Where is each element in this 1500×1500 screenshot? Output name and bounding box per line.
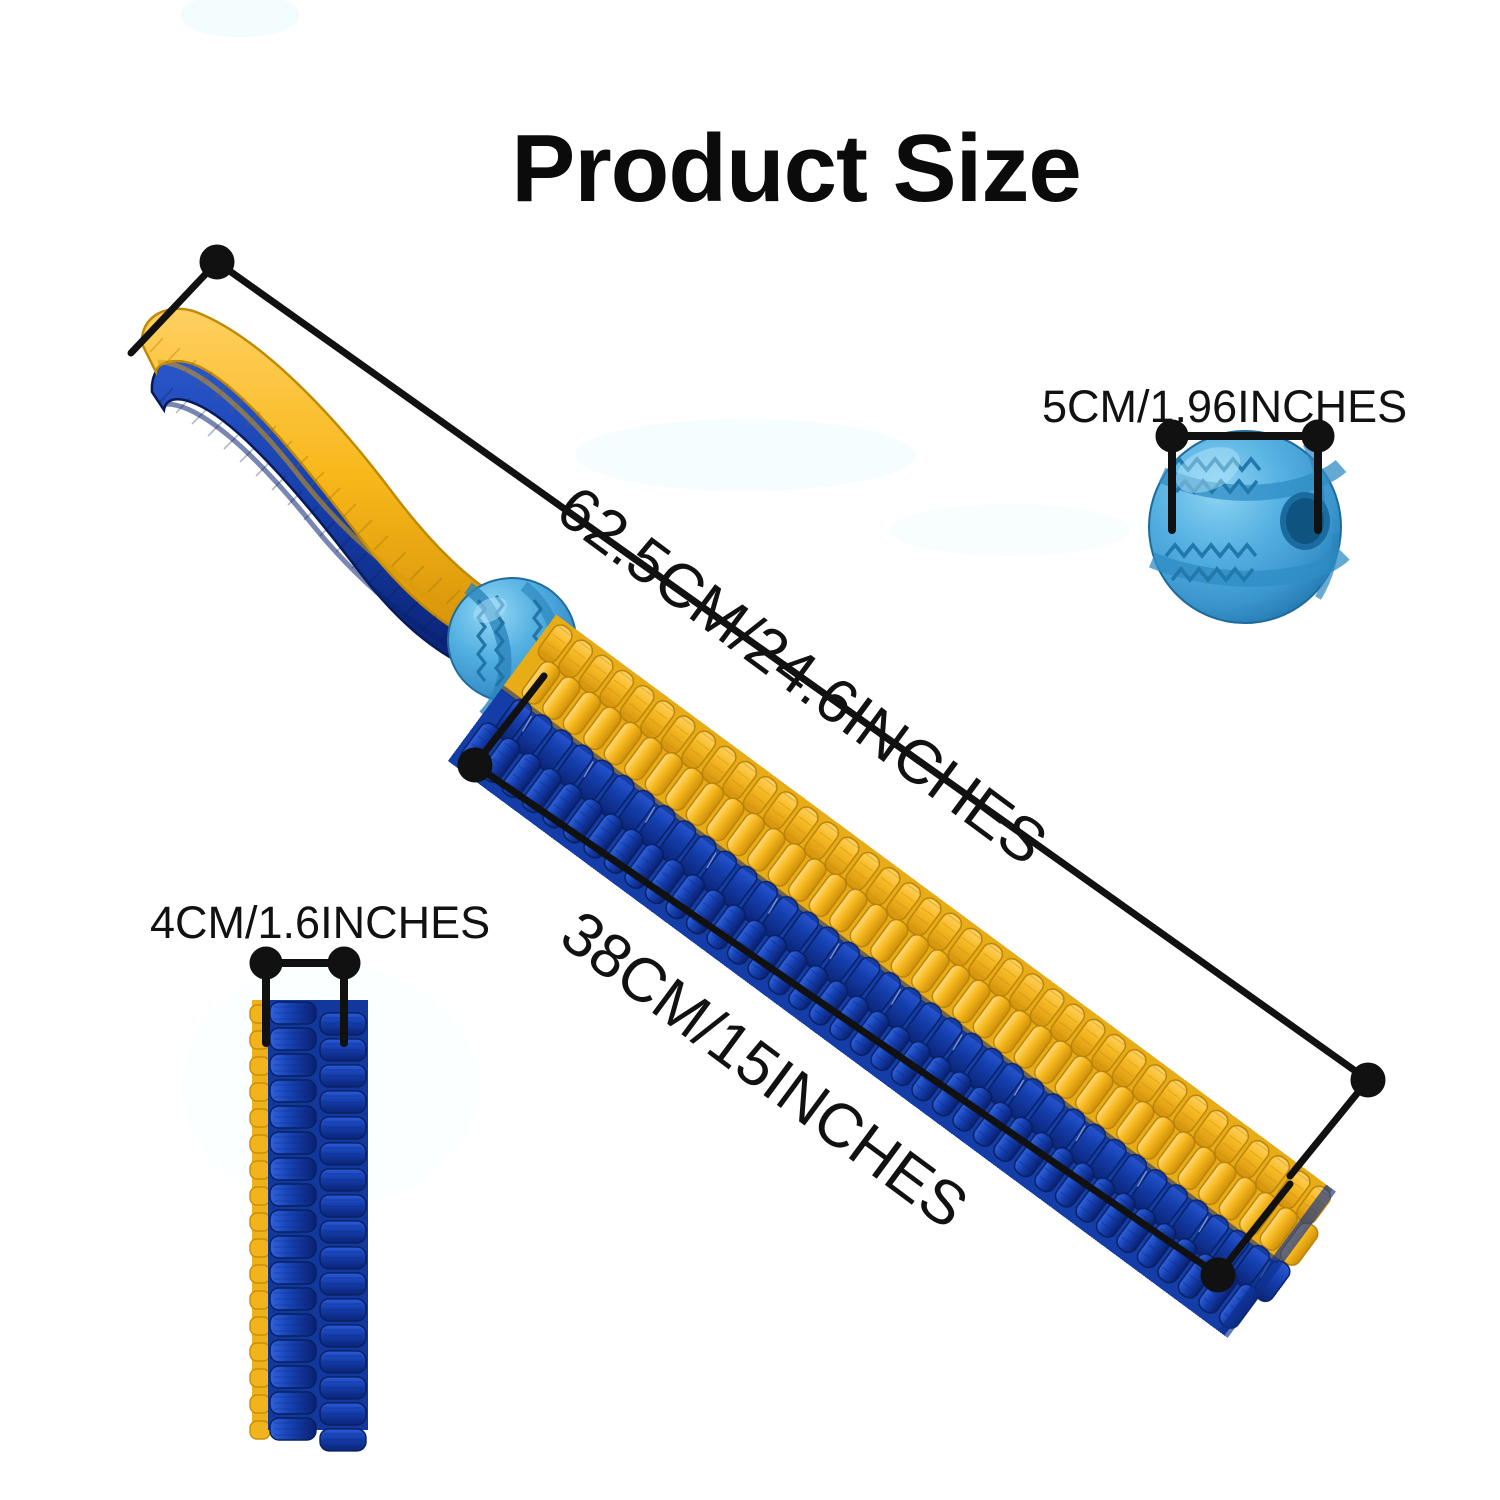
- dimension-endpoint-dot: [458, 748, 492, 782]
- dimension-endpoint-dot: [328, 947, 360, 979]
- dimension-endpoint-dot: [200, 245, 234, 279]
- dimension-endpoint-dot: [1201, 1258, 1235, 1292]
- handle-loops: [142, 309, 496, 668]
- dimension-label-ball-diameter: 5CM/1.96INCHES: [1042, 381, 1407, 433]
- dimension-label-braid-width: 4CM/1.6INCHES: [150, 897, 490, 949]
- handle-loop-yellow: [142, 309, 496, 642]
- title-banner: Product Size: [382, 104, 1210, 234]
- braid-closeup-vertical: [250, 1000, 368, 1451]
- page-title: Product Size: [511, 121, 1080, 217]
- dimension-endpoint-dot: [250, 947, 282, 979]
- product-size-infographic: Product Size 5CM/1.96INCHES 4CM/1.6INCHE…: [0, 0, 1500, 1500]
- dimension-endpoint-dot: [1351, 1063, 1385, 1097]
